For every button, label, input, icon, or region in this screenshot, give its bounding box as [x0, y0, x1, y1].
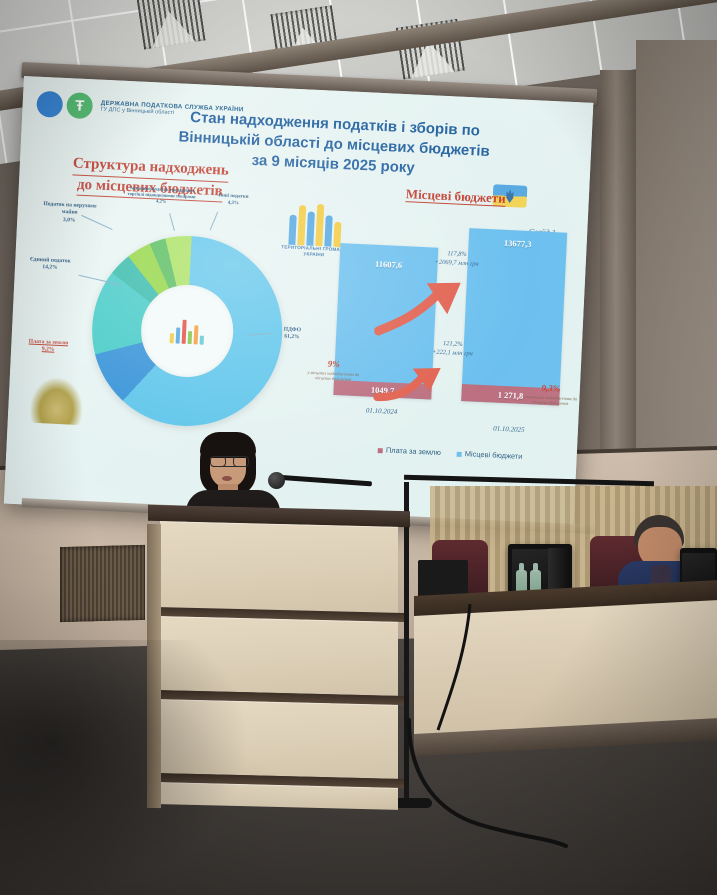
fringe — [200, 432, 256, 458]
conference-hall-photo: Ŧ ДЕРЖАВНА ПОДАТКОВА СЛУЖБА УКРАЇНИ ГУ Д… — [0, 0, 717, 895]
microphone-icon[interactable] — [268, 472, 285, 489]
lectern-panel — [160, 521, 398, 613]
pie-label-pdfo: ПДФО61,2% — [270, 326, 315, 343]
growth-arrow-icon — [374, 277, 469, 341]
wall-vent-grille-icon — [60, 545, 145, 622]
legend-swatch-budget-icon — [457, 451, 462, 456]
floor-shadow — [0, 640, 250, 895]
callout-line — [169, 213, 175, 231]
right-side-percentage: 9,3% у загальних надходженнях до місцеви… — [523, 382, 578, 407]
logo-blue-circle-icon — [36, 91, 63, 118]
pie-label-other-taxes: Інші податки4,3% — [206, 193, 261, 209]
left-side-note: у місцевих надходженнях до місцевих бюдж… — [306, 370, 360, 383]
callout-line — [210, 212, 219, 231]
bar-chart: 11607,6 1049,7 01.10.2024 13677,3 1 271,… — [324, 239, 583, 441]
pie-label-land-fee: Плата за землю9,2% — [17, 338, 80, 355]
trident-icon: Ŧ — [75, 98, 85, 113]
wheat-ears-decoration — [30, 377, 84, 425]
legend-swatch-land-icon — [378, 448, 383, 453]
logo-green-circle-icon: Ŧ — [66, 92, 93, 119]
left-side-percentage: 9% у місцевих надходженнях до місцевих б… — [306, 358, 361, 383]
bar-value-2025-budget: 13677,3 — [468, 236, 566, 251]
glasses-icon — [210, 456, 249, 467]
pie-label-property-tax: Податок на нерухоме майно3,0% — [37, 201, 102, 226]
bar-category-2024: 01.10.2024 — [326, 405, 436, 418]
center-bars-icon — [170, 317, 205, 345]
pie-chart — [88, 232, 287, 431]
legend-item-land: Плата за землю — [378, 445, 441, 457]
growth-arrow-icon — [373, 363, 447, 406]
pie-label-excise-tax: Акцизний податок з роздрібної торгівлі п… — [122, 185, 201, 207]
pie-label-single-tax: Єдиний податок14,2% — [17, 256, 84, 274]
presidium-desk — [414, 596, 717, 796]
projection-screen: Ŧ ДЕРЖАВНА ПОДАТКОВА СЛУЖБА УКРАЇНИ ГУ Д… — [4, 76, 594, 530]
mouth — [222, 476, 232, 481]
bar-category-2025: 01.10.2025 — [454, 423, 564, 436]
chart-legend: Плата за землю Місцеві бюджети — [343, 443, 558, 462]
presentation-slide: Ŧ ДЕРЖАВНА ПОДАТКОВА СЛУЖБА УКРАЇНИ ГУ Д… — [4, 76, 594, 530]
legend-item-budget: Місцеві бюджети — [457, 449, 523, 461]
